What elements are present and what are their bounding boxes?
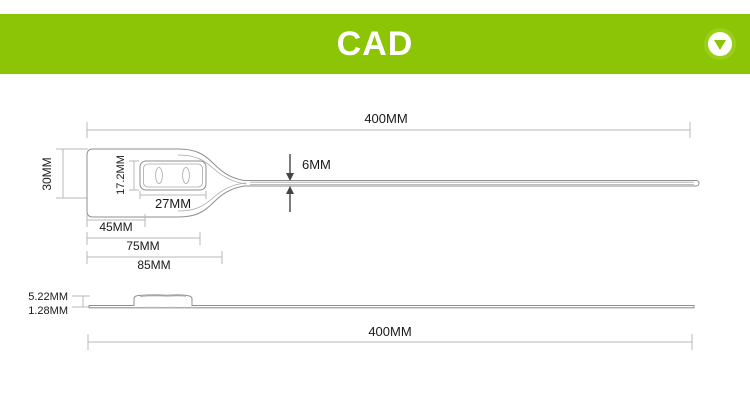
label-flag-width: 45MM	[99, 220, 132, 234]
seal-side-view-outline	[89, 295, 694, 308]
seal-head-window	[140, 161, 206, 190]
label-strap-width: 6MM	[302, 157, 331, 172]
label-window-width: 27MM	[155, 196, 191, 211]
label-window-height: 17.2MM	[115, 155, 127, 195]
label-head-total: 85MM	[137, 258, 170, 272]
cad-drawing-canvas: 400MM 30MM	[0, 74, 750, 418]
dropdown-circle	[708, 32, 732, 56]
label-head-to-taper: 75MM	[126, 239, 159, 253]
label-strap-thickness: 1.28MM	[28, 305, 68, 317]
label-overall-length-bottom: 400MM	[368, 324, 411, 339]
dimension-side-thickness	[72, 296, 90, 307]
page-header: CAD	[0, 14, 750, 74]
label-head-height: 30MM	[40, 157, 54, 190]
page-title: CAD	[337, 27, 414, 61]
label-overall-length-top: 400MM	[364, 111, 407, 126]
technical-drawing-svg: 400MM 30MM	[0, 74, 750, 418]
label-head-thickness: 5.22MM	[28, 291, 68, 303]
chevron-down-circle-icon[interactable]	[704, 28, 736, 60]
dimension-head-height	[56, 149, 88, 198]
cad-drawing-page: CAD 400MM 30MM	[0, 0, 750, 418]
chevron-down-triangle	[714, 40, 726, 50]
